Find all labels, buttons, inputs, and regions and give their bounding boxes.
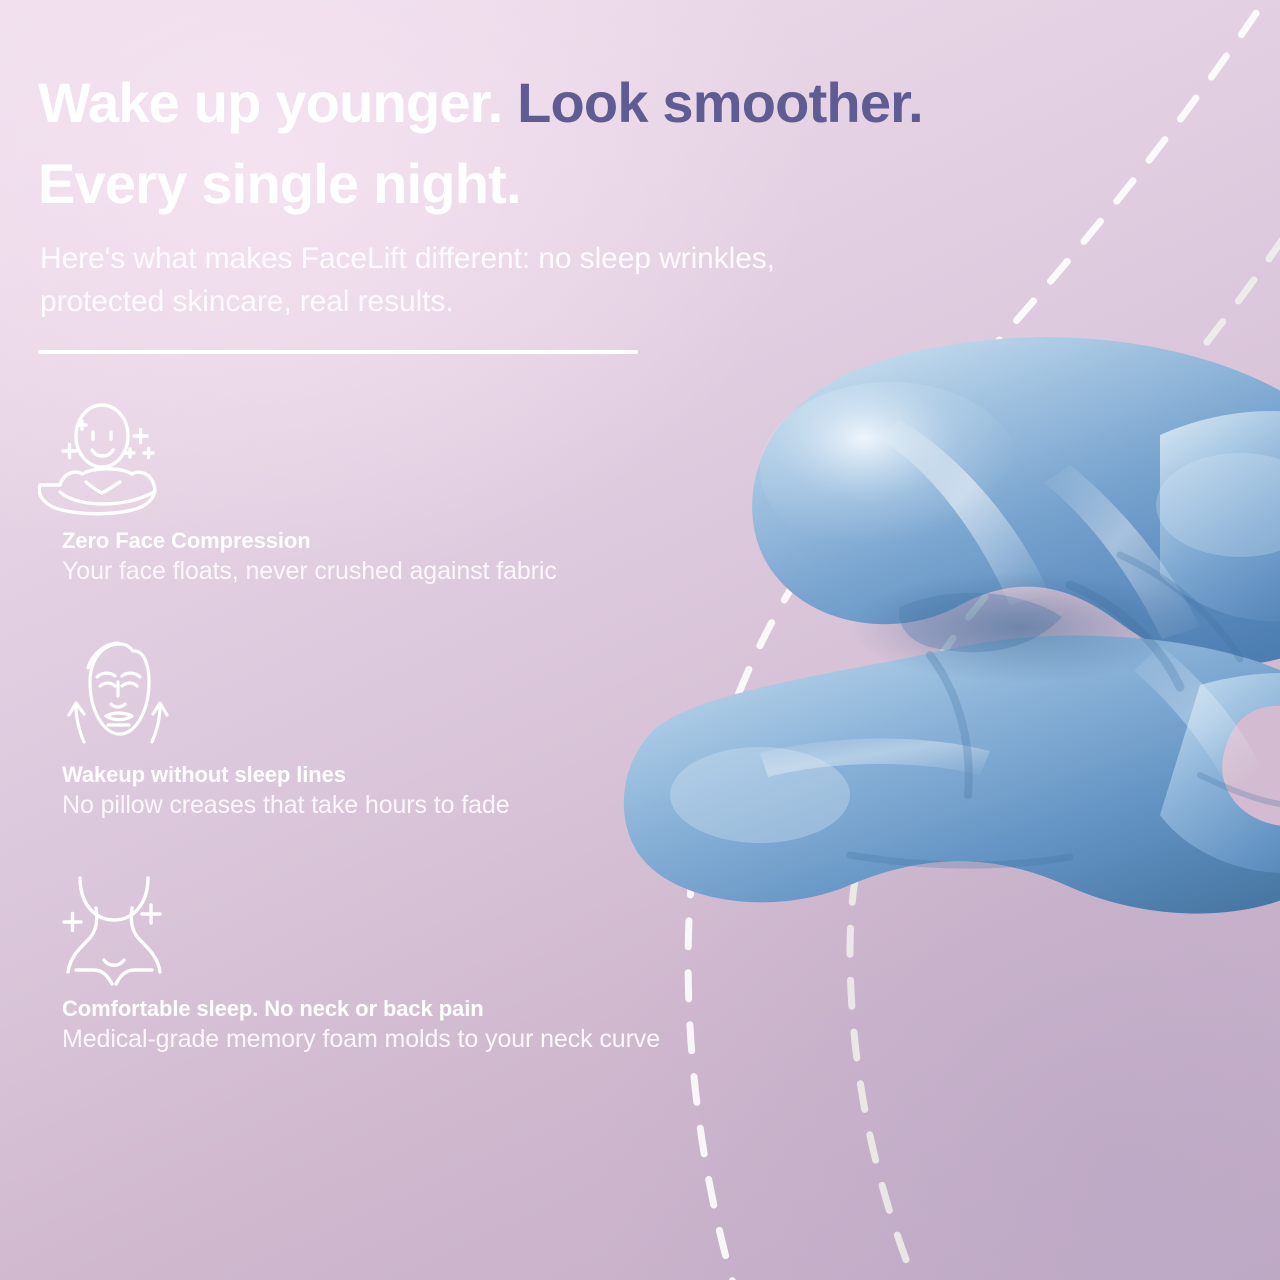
feature-item-zero-face-compression: Zero Face Compression Your face floats, …	[38, 396, 818, 586]
feature-description: Medical-grade memory foam molds to your …	[62, 1025, 818, 1054]
face-on-pillow-icon	[38, 396, 166, 524]
face-lift-arrows-icon	[54, 630, 182, 758]
subheadline: Here's what makes FaceLift different: no…	[40, 238, 830, 323]
feature-list: Zero Face Compression Your face floats, …	[38, 396, 818, 1054]
pillow-contact-shadow	[850, 571, 1190, 683]
feature-title: Zero Face Compression	[62, 528, 818, 554]
feature-description: Your face floats, never crushed against …	[62, 557, 818, 586]
promo-banner: Wake up younger. Look smoother. Every si…	[0, 0, 1280, 1280]
feature-item-comfortable-sleep: Comfortable sleep. No neck or back pain …	[38, 864, 818, 1054]
divider-rule	[38, 350, 638, 354]
feature-title: Wakeup without sleep lines	[62, 762, 818, 788]
neck-decolletage-icon	[50, 864, 178, 992]
copy-block: Wake up younger. Look smoother. Every si…	[38, 62, 1078, 354]
feature-item-no-sleep-lines: Wakeup without sleep lines No pillow cre…	[38, 630, 818, 820]
feature-description: No pillow creases that take hours to fad…	[62, 791, 818, 820]
headline-part-1: Wake up younger.	[38, 71, 502, 134]
headline-part-3: Every single night.	[38, 152, 521, 215]
page-title: Wake up younger. Look smoother. Every si…	[38, 62, 1078, 224]
headline-part-2: Look smoother.	[517, 71, 923, 134]
feature-title: Comfortable sleep. No neck or back pain	[62, 996, 818, 1022]
